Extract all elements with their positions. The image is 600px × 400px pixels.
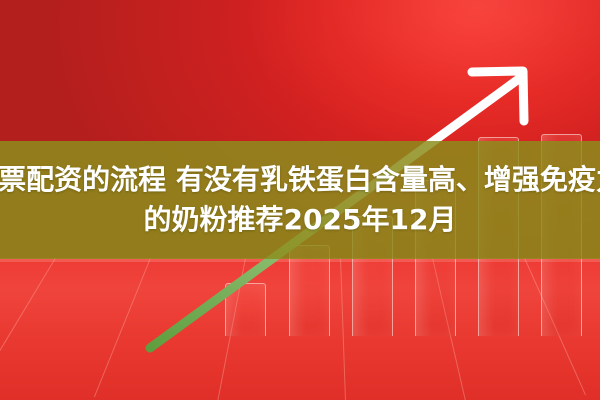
grid-vline bbox=[340, 258, 346, 400]
headline-text: 股票配资的流程 有没有乳铁蛋白含量高、增强免疫力 的奶粉推荐2025年12月 bbox=[0, 141, 600, 259]
headline-line-2: 的奶粉推荐2025年12月 bbox=[144, 203, 457, 237]
headline-line-1: 股票配资的流程 有没有乳铁蛋白含量高、增强免疫力 bbox=[0, 163, 600, 197]
bar-gloss bbox=[226, 284, 242, 336]
chart-bar-1 bbox=[225, 283, 266, 336]
grid-vline bbox=[94, 258, 151, 397]
grid-vline bbox=[0, 258, 56, 387]
bar-gloss bbox=[290, 246, 306, 336]
banner-canvas: 股票配资的流程 有没有乳铁蛋白含量高、增强免疫力 的奶粉推荐2025年12月 bbox=[0, 0, 600, 400]
